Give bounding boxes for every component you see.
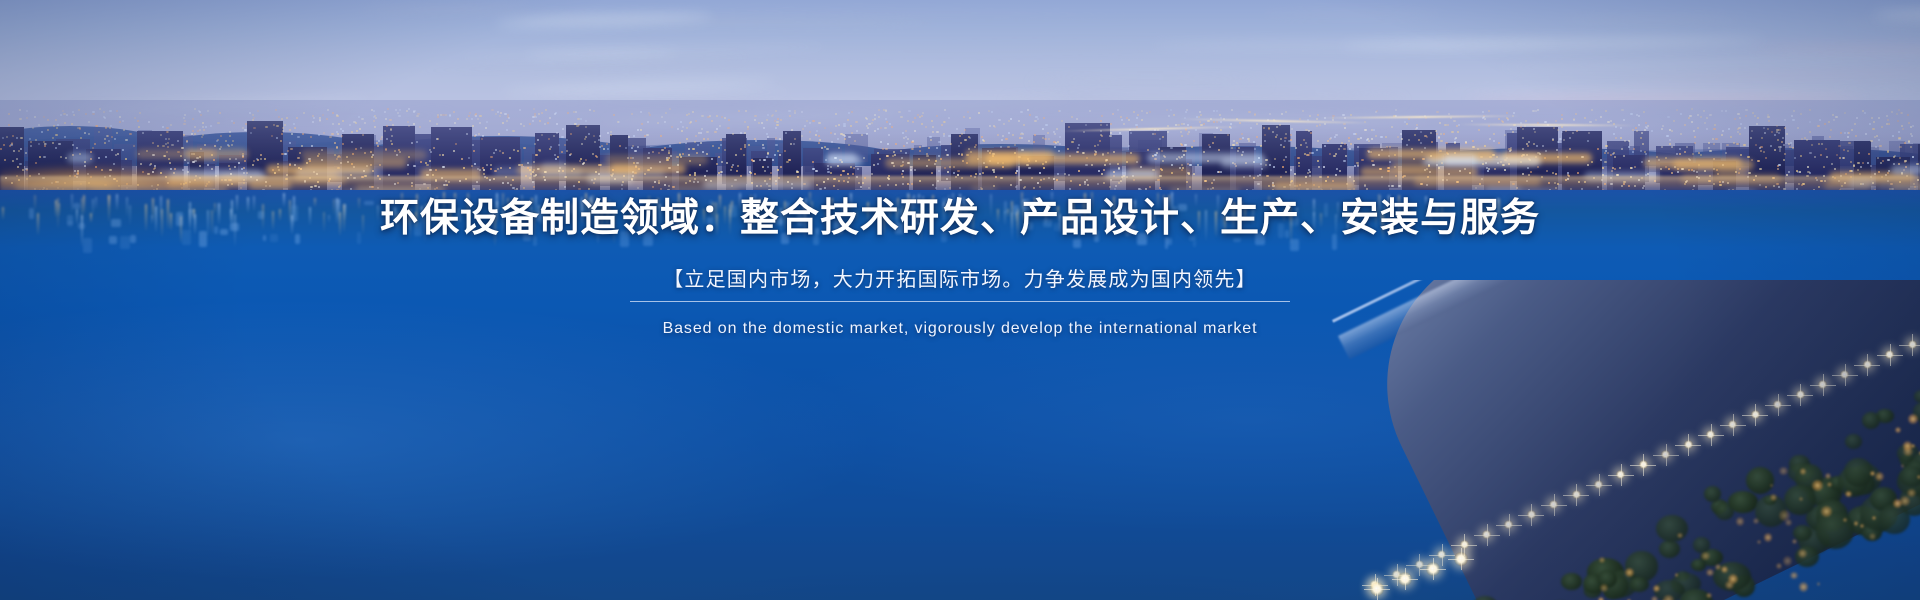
window-light — [1645, 153, 1647, 155]
light-reflection — [344, 204, 346, 221]
window-light — [374, 126, 376, 128]
window-light — [1305, 142, 1307, 144]
window-light — [648, 152, 650, 154]
window-light — [499, 150, 501, 152]
window-light — [1709, 150, 1712, 152]
street-glow — [825, 156, 863, 166]
light-reflection — [436, 196, 438, 208]
window-light — [1034, 120, 1037, 122]
window-light — [809, 131, 811, 133]
window-light — [220, 135, 222, 137]
window-light — [104, 117, 106, 119]
window-light — [974, 146, 976, 148]
window-light — [1448, 113, 1450, 115]
window-light — [1817, 125, 1820, 127]
window-light — [1183, 123, 1185, 125]
light-reflection — [590, 196, 592, 219]
window-light — [1371, 138, 1373, 140]
light-reflection — [680, 203, 682, 215]
window-light — [1754, 115, 1756, 117]
street-lamp — [1572, 490, 1581, 499]
window-light — [1016, 170, 1018, 172]
window-light — [1767, 116, 1770, 118]
window-light — [1389, 146, 1391, 148]
window-light — [73, 114, 75, 116]
window-light — [429, 160, 431, 162]
window-light — [1263, 127, 1265, 129]
window-light — [880, 127, 882, 129]
window-light — [1076, 118, 1078, 120]
window-light — [766, 156, 768, 158]
window-light — [767, 136, 769, 138]
window-light — [1104, 164, 1106, 166]
window-light — [1555, 173, 1557, 175]
window-light — [982, 139, 984, 141]
shimmer-streak — [776, 218, 783, 225]
window-light — [1776, 125, 1778, 127]
window-light — [534, 115, 536, 117]
window-light — [680, 121, 682, 123]
window-light — [634, 150, 637, 152]
light-reflection — [657, 198, 659, 211]
window-light — [1298, 165, 1300, 167]
window-light — [775, 127, 777, 129]
light-reflection — [1153, 213, 1155, 237]
shimmer-streak — [488, 213, 495, 217]
window-light — [1048, 138, 1050, 140]
light-reflection — [279, 209, 281, 221]
window-light — [1638, 115, 1640, 117]
window-light — [1177, 124, 1180, 126]
window-light — [1029, 114, 1031, 116]
window-light — [2, 137, 4, 139]
window-light — [1071, 116, 1073, 118]
window-light — [712, 145, 714, 147]
shimmer-streak — [786, 202, 790, 215]
window-light — [878, 109, 880, 111]
window-light — [1498, 142, 1500, 144]
window-light — [885, 148, 888, 150]
light-reflection — [831, 198, 833, 207]
window-light — [1782, 137, 1784, 139]
window-light — [332, 123, 334, 125]
window-light — [407, 173, 409, 175]
warm-light — [1825, 473, 1831, 479]
light-reflection — [323, 212, 325, 233]
window-light — [1302, 110, 1304, 112]
window-light — [848, 144, 850, 146]
window-light — [1078, 170, 1080, 172]
light-reflection — [1425, 196, 1427, 207]
light-reflection — [443, 192, 445, 212]
window-light — [3, 144, 5, 146]
window-light — [1857, 162, 1860, 164]
window-light — [162, 145, 165, 147]
window-light — [109, 110, 112, 112]
shimmer-streak — [633, 208, 640, 216]
window-light — [1285, 171, 1287, 173]
window-light — [948, 117, 950, 119]
shimmer-streak — [1043, 219, 1052, 227]
window-light — [389, 119, 392, 121]
window-light — [466, 118, 468, 120]
window-light — [62, 110, 64, 112]
window-light — [891, 126, 893, 128]
window-light — [52, 142, 54, 144]
window-light — [649, 114, 651, 116]
light-reflection — [160, 196, 162, 223]
window-light — [1184, 150, 1187, 152]
light-reflection — [427, 204, 429, 219]
window-light — [1170, 109, 1172, 111]
window-light — [1371, 129, 1373, 131]
window-light — [497, 111, 499, 113]
window-light — [1569, 137, 1571, 139]
window-light — [1793, 110, 1795, 112]
window-light — [1012, 134, 1014, 136]
window-light — [1591, 109, 1593, 111]
window-light — [903, 137, 905, 139]
window-light — [1071, 141, 1074, 143]
light-reflection — [724, 206, 726, 224]
window-light — [902, 132, 904, 134]
window-light — [1316, 125, 1318, 127]
window-light — [1274, 158, 1276, 160]
window-light — [1865, 133, 1867, 135]
window-light — [631, 113, 633, 115]
window-light — [1584, 117, 1586, 119]
window-light — [1414, 134, 1416, 136]
window-light — [1073, 138, 1075, 140]
light-reflection — [955, 212, 957, 225]
window-light — [252, 119, 254, 121]
window-light — [794, 112, 796, 114]
window-light — [280, 140, 282, 142]
window-light — [326, 118, 328, 120]
shimmer-streak — [1078, 217, 1084, 223]
window-light — [152, 142, 154, 144]
window-light — [1336, 168, 1338, 170]
window-light — [457, 118, 459, 120]
window-light — [824, 146, 826, 148]
window-light — [549, 148, 551, 150]
window-light — [1406, 144, 1408, 146]
window-light — [1686, 146, 1688, 148]
window-light — [754, 119, 756, 121]
window-light — [1545, 150, 1547, 152]
window-light — [44, 143, 46, 145]
shimmer-streak — [1189, 236, 1194, 241]
window-light — [830, 172, 832, 174]
window-light — [762, 147, 765, 149]
light-reflection — [972, 214, 974, 245]
window-light — [1563, 139, 1565, 141]
window-light — [1494, 168, 1496, 170]
window-light — [1860, 166, 1862, 168]
window-light — [1200, 124, 1203, 126]
window-light — [1034, 134, 1036, 136]
light-reflection — [1337, 202, 1339, 221]
light-reflection — [990, 194, 992, 218]
window-light — [625, 147, 627, 149]
light-reflection — [1436, 206, 1438, 221]
window-light — [1878, 117, 1880, 119]
window-light — [1825, 148, 1827, 150]
window-light — [1794, 157, 1796, 159]
window-light — [580, 118, 582, 120]
window-light — [216, 140, 218, 142]
window-light — [1801, 138, 1803, 140]
window-light — [950, 143, 952, 145]
shimmer-streak — [67, 221, 73, 227]
window-light — [437, 114, 439, 116]
window-light — [1684, 151, 1686, 153]
window-light — [731, 166, 733, 168]
window-light — [1783, 159, 1785, 161]
window-light — [1763, 127, 1765, 129]
window-light — [1216, 121, 1218, 123]
window-light — [56, 127, 58, 129]
window-light — [661, 116, 663, 118]
window-light — [878, 116, 880, 118]
window-light — [1604, 161, 1607, 163]
window-light — [1869, 123, 1871, 125]
window-light — [442, 154, 444, 156]
window-light — [1624, 140, 1626, 142]
window-light — [1607, 152, 1609, 154]
window-light — [1737, 128, 1739, 130]
window-light — [660, 135, 662, 137]
window-light — [1784, 153, 1786, 155]
window-light — [1309, 171, 1311, 173]
window-light — [1828, 121, 1830, 123]
light-reflection — [377, 205, 379, 222]
window-light — [671, 126, 673, 128]
window-light — [871, 122, 873, 124]
window-light — [1791, 115, 1793, 117]
window-light — [1667, 116, 1670, 118]
window-light — [1739, 133, 1741, 135]
window-light — [1774, 134, 1776, 136]
window-light — [95, 125, 98, 127]
window-light — [265, 126, 268, 128]
warm-light — [1736, 517, 1744, 525]
window-light — [794, 138, 796, 140]
window-light — [982, 172, 984, 174]
street-lamp — [1639, 460, 1648, 469]
window-light — [64, 136, 66, 138]
warm-light — [1827, 482, 1832, 487]
window-light — [1671, 172, 1673, 174]
window-light — [1784, 127, 1786, 129]
window-light — [938, 141, 941, 143]
window-light — [495, 113, 497, 115]
window-light — [1357, 146, 1359, 148]
window-light — [771, 115, 773, 117]
light-reflection — [1268, 196, 1270, 211]
light-reflection — [155, 206, 157, 233]
window-light — [1556, 149, 1558, 151]
window-light — [205, 126, 207, 128]
window-light — [1565, 130, 1567, 132]
window-light — [1792, 119, 1795, 121]
window-light — [838, 124, 840, 126]
window-light — [1300, 144, 1302, 146]
window-light — [802, 128, 804, 130]
window-light — [1297, 157, 1300, 159]
window-light — [956, 128, 958, 130]
window-light — [1106, 124, 1108, 126]
window-light — [1484, 118, 1486, 120]
window-light — [688, 113, 690, 115]
window-light — [1555, 120, 1557, 122]
window-light — [1356, 162, 1359, 164]
window-light — [194, 126, 196, 128]
window-light — [919, 146, 921, 148]
window-light — [776, 124, 779, 126]
window-light — [791, 129, 793, 131]
window-light — [1042, 128, 1044, 130]
shimmer-streak — [729, 205, 737, 218]
window-light — [1784, 119, 1786, 121]
window-light — [204, 144, 206, 146]
shimmer-streak — [457, 208, 460, 223]
window-light — [1823, 166, 1825, 168]
window-light — [1679, 153, 1681, 155]
window-light — [1809, 152, 1812, 154]
shimmer-streak — [111, 219, 120, 227]
window-light — [669, 145, 671, 147]
window-light — [575, 111, 577, 113]
window-light — [1020, 111, 1023, 113]
window-light — [1561, 114, 1563, 116]
window-light — [1871, 117, 1873, 119]
window-light — [1680, 133, 1682, 135]
window-light — [669, 108, 671, 110]
window-light — [887, 143, 889, 145]
window-light — [1855, 135, 1857, 137]
window-light — [720, 139, 722, 141]
window-light — [1836, 154, 1838, 156]
window-light — [1709, 114, 1712, 116]
window-light — [1290, 134, 1292, 136]
window-light — [1353, 133, 1356, 135]
light-reflection — [952, 193, 954, 212]
window-light — [619, 145, 621, 147]
window-light — [690, 121, 692, 123]
window-light — [6, 136, 8, 138]
light-reflection — [1215, 211, 1217, 239]
warm-light — [1701, 552, 1709, 560]
window-light — [1324, 145, 1326, 147]
window-light — [835, 125, 837, 127]
window-light — [449, 115, 451, 117]
window-light — [1136, 117, 1138, 119]
window-light — [539, 120, 541, 122]
window-light — [919, 150, 921, 152]
window-light — [1736, 143, 1739, 145]
window-light — [1310, 132, 1312, 134]
window-light — [1487, 170, 1489, 172]
window-light — [1533, 128, 1535, 130]
window-light — [183, 117, 185, 119]
window-light — [1489, 138, 1491, 140]
window-light — [711, 120, 713, 122]
window-light — [1158, 148, 1160, 150]
window-light — [788, 159, 791, 161]
window-light — [702, 151, 704, 153]
window-light — [900, 116, 903, 118]
window-light — [351, 131, 353, 133]
window-light — [252, 114, 254, 116]
window-light — [351, 141, 353, 143]
window-light — [490, 156, 493, 158]
peninsula-land — [1340, 280, 1920, 600]
shimmer-streak — [176, 212, 183, 226]
window-light — [119, 116, 121, 118]
window-light — [1504, 134, 1506, 136]
window-light — [183, 134, 185, 136]
window-light — [754, 115, 757, 117]
window-light — [1747, 156, 1750, 158]
window-light — [936, 131, 939, 133]
window-light — [319, 117, 321, 119]
window-light — [1764, 132, 1766, 134]
light-reflection — [963, 197, 965, 227]
window-light — [20, 137, 23, 139]
window-light — [1507, 119, 1509, 121]
light-reflection — [585, 193, 587, 217]
window-light — [1677, 171, 1679, 173]
window-light — [471, 165, 473, 167]
window-light — [640, 129, 642, 131]
window-light — [392, 124, 394, 126]
window-light — [1298, 162, 1300, 164]
window-light — [53, 125, 55, 127]
shimmer-streak — [841, 205, 846, 213]
window-light — [695, 120, 697, 122]
window-light — [502, 152, 504, 154]
window-light — [60, 114, 62, 116]
window-light — [1910, 126, 1912, 128]
window-light — [1661, 146, 1663, 148]
window-light — [361, 118, 364, 120]
window-light — [898, 111, 901, 113]
window-light — [948, 135, 951, 137]
light-reflection — [930, 199, 932, 232]
window-light — [1613, 152, 1615, 154]
window-light — [499, 115, 501, 117]
window-light — [1800, 155, 1802, 157]
window-light — [770, 172, 772, 174]
window-light — [472, 125, 474, 127]
window-light — [8, 113, 10, 115]
window-light — [1868, 153, 1870, 155]
window-light — [1668, 168, 1670, 170]
window-light — [1171, 164, 1173, 166]
window-light — [786, 161, 789, 163]
window-light — [217, 122, 220, 124]
warm-light — [1675, 573, 1678, 576]
window-light — [200, 114, 202, 116]
window-light — [210, 125, 212, 127]
window-light — [900, 150, 902, 152]
window-light — [377, 145, 379, 147]
window-light — [385, 118, 387, 120]
window-light — [72, 144, 74, 146]
window-light — [426, 164, 429, 166]
shimmer-streak — [78, 223, 85, 229]
